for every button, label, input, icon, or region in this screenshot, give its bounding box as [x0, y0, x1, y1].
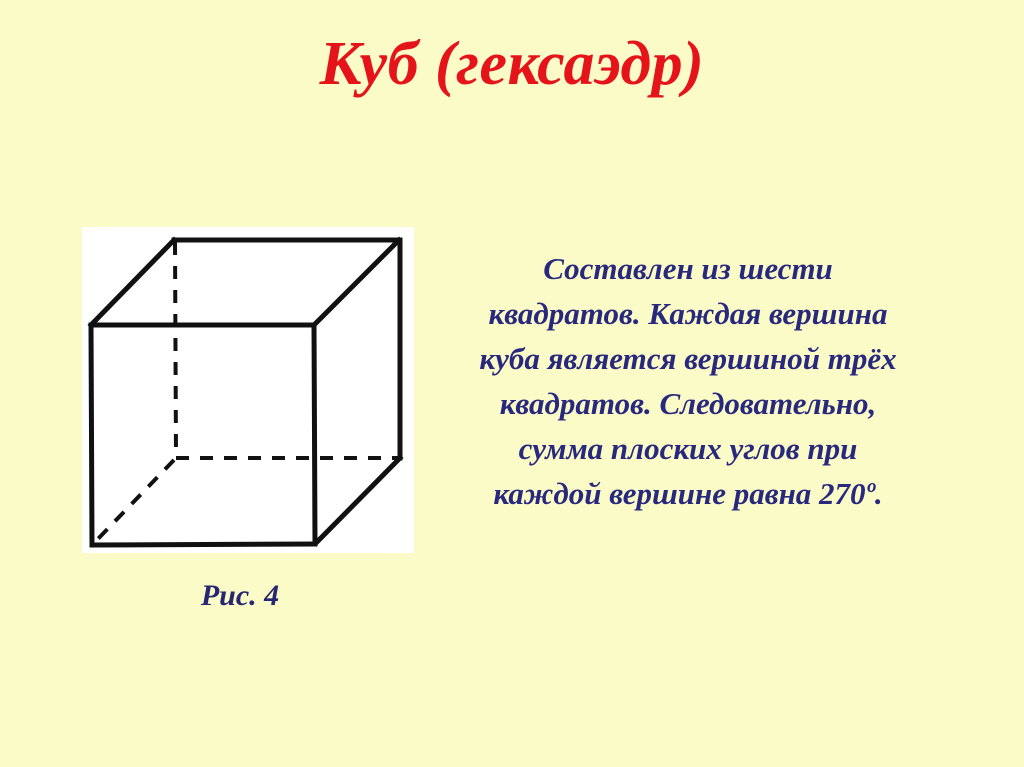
cube-edge-front-right [314, 325, 315, 544]
page-title: Куб (гексаэдр) [0, 26, 1024, 102]
cube-edge-front-left [91, 325, 92, 545]
cube-edge-top-right-diagonal [314, 240, 399, 325]
description-line-5: сумма плоских углов при [424, 426, 952, 471]
description-line-3: куба является вершиной трёх [424, 336, 952, 381]
cube-wireframe-icon [82, 227, 414, 553]
description-line-1: Составлен из шести [424, 246, 952, 291]
figure-cube [82, 227, 414, 553]
cube-edge-hidden-vertical [175, 242, 176, 458]
cube-edge-front-bottom [92, 544, 315, 545]
figure-caption: Рис. 4 [82, 578, 398, 614]
description-line-6: каждой вершине равна 270º. [424, 471, 952, 516]
description-line-4: квадратов. Следовательно, [424, 381, 952, 426]
cube-image-frame [82, 227, 414, 553]
cube-edge-top-left-diagonal [91, 240, 174, 325]
cube-edge-hidden-diagonal [93, 460, 174, 544]
description-line-2: квадратов. Каждая вершина [424, 291, 952, 336]
slide-canvas: Куб (гексаэдр) [0, 0, 1024, 767]
description-text: Составлен из шести квадратов. Каждая вер… [424, 246, 952, 516]
cube-edge-bottom-right-diagonal [316, 458, 400, 543]
